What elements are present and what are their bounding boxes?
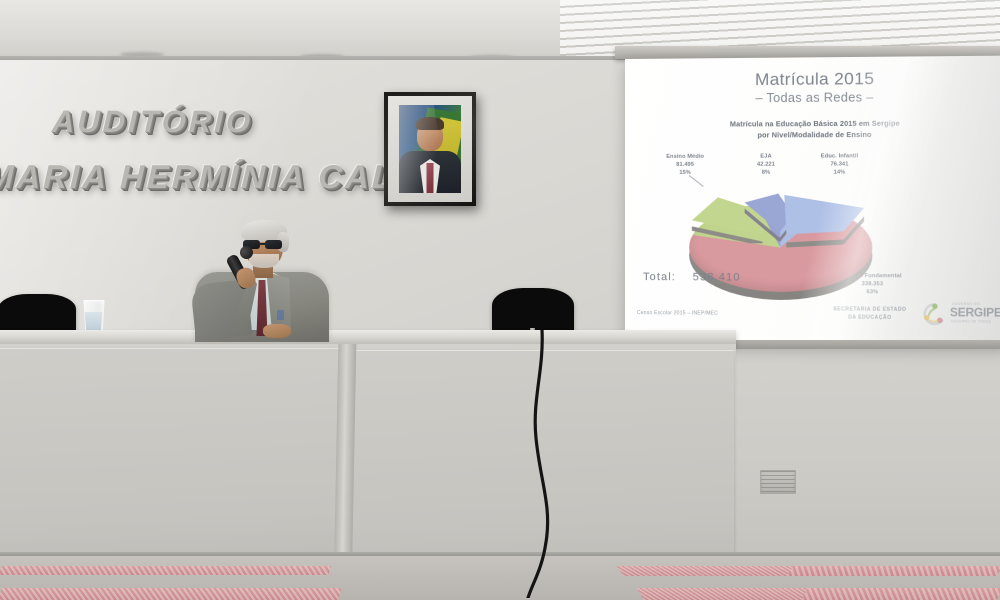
floor-tile-strip bbox=[0, 566, 332, 575]
slide-caption-line2: por Nível/Modalidade de Ensino bbox=[625, 129, 1000, 141]
secretaria-line1: SECRETARIA DE ESTADO bbox=[833, 306, 906, 314]
logo-word-top: GOVERNO DO bbox=[952, 302, 980, 306]
speaker bbox=[185, 218, 335, 340]
pie-label-percent: 8% bbox=[744, 169, 789, 177]
floor-tile-strip bbox=[802, 588, 1000, 600]
slide-caption: Matrícula na Educação Básica 2015 em Ser… bbox=[625, 118, 1000, 142]
slide-title: Matrícula 2015 bbox=[625, 68, 1000, 91]
pie-label-value: 76.341 bbox=[803, 160, 877, 168]
projection-screen: Matrícula 2015 – Todas as Redes – Matríc… bbox=[625, 56, 1000, 348]
slide-subtitle: – Todas as Redes – bbox=[625, 89, 1000, 106]
pie-chart: Ensino Médio 81.495 15% EJA 42.221 8% Ed… bbox=[625, 150, 1000, 326]
pie-label-value: 81.495 bbox=[647, 161, 723, 169]
logo-word-bottom: GOVERNO DE TODOS bbox=[951, 319, 991, 323]
table-panel-left bbox=[0, 348, 342, 583]
portrait-mat bbox=[388, 96, 472, 202]
water-glass bbox=[82, 300, 106, 334]
floor-tile-strip bbox=[787, 566, 1000, 576]
beard bbox=[249, 254, 279, 268]
slide-total: Total: 538.410 bbox=[643, 271, 741, 284]
pocket-badge bbox=[277, 310, 284, 320]
floor-tile-strip bbox=[0, 588, 342, 600]
sergipe-logo: GOVERNO DO SERGIPE GOVERNO DE TODOS bbox=[922, 301, 1000, 328]
secretaria-label: SECRETARIA DE ESTADO DA EDUCAÇÃO bbox=[833, 306, 906, 322]
chair bbox=[0, 294, 76, 334]
pie-label-eja: EJA 42.221 8% bbox=[744, 153, 789, 178]
slice-top bbox=[776, 191, 878, 242]
secretaria-line2: DA EDUCAÇÃO bbox=[833, 314, 906, 322]
sergipe-logo-mark bbox=[922, 302, 948, 327]
slide-source: Censo Escolar 2015 – INEP/MEC bbox=[637, 310, 718, 317]
slide-content: Matrícula 2015 – Todas as Redes – Matríc… bbox=[625, 56, 1000, 348]
pie-label-name: Ensino Médio bbox=[647, 153, 723, 161]
lens-right bbox=[265, 240, 282, 249]
pie-label-percent: 14% bbox=[803, 169, 877, 177]
pie-label-ensino-medio: Ensino Médio 81.495 15% bbox=[647, 153, 723, 178]
floor-cable bbox=[470, 330, 610, 598]
portrait-image bbox=[399, 105, 461, 193]
total-value: 538.410 bbox=[693, 271, 741, 283]
pie-label-name: EJA bbox=[744, 153, 789, 161]
framed-portrait bbox=[384, 92, 476, 206]
logo-wordmark: SERGIPE bbox=[950, 307, 1000, 320]
pie-slice-educ-infantil bbox=[776, 191, 878, 250]
auditorium-photo: AUDITÓRIO MARIA HERMÍNIA CALDAS Matrícul… bbox=[0, 0, 1000, 600]
resting-hand bbox=[263, 324, 291, 338]
wall-sign-auditorio: AUDITÓRIO bbox=[51, 104, 253, 140]
pie-label-percent: 15% bbox=[647, 169, 723, 177]
vent-louvers bbox=[761, 471, 795, 493]
pie-label-value: 42.221 bbox=[744, 161, 789, 169]
water bbox=[84, 312, 103, 332]
pie-label-educ-infantil: Educ. Infantil 76.341 14% bbox=[803, 152, 877, 177]
pie-geometry bbox=[673, 181, 887, 308]
pie-label-name: Educ. Infantil bbox=[803, 152, 877, 160]
total-label: Total: bbox=[643, 271, 676, 283]
wall-vent bbox=[760, 470, 796, 494]
floor-tile-strip bbox=[637, 588, 824, 600]
